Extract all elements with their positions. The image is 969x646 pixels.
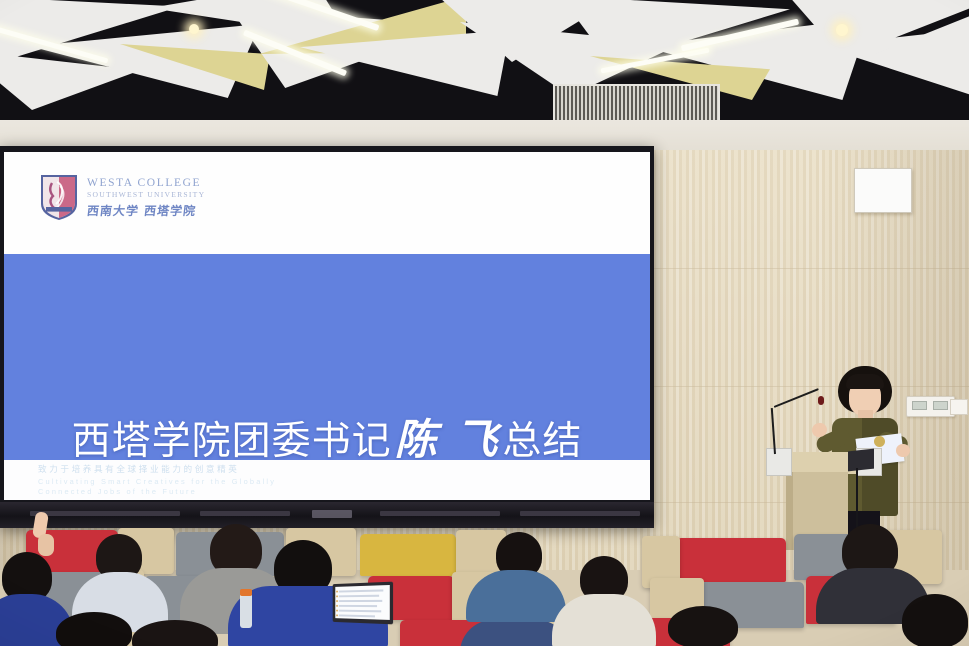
tagline-english-line1: Cultivating Smart Creatives for the Glob… <box>38 477 276 487</box>
laptop-screen <box>335 585 390 620</box>
presentation-display: WESTA COLLEGE SOUTHWEST UNIVERSITY 西南大学 … <box>0 146 654 528</box>
ac-display-left <box>912 401 927 410</box>
attendee-head <box>902 594 968 646</box>
lecture-hall-photo: WESTA COLLEGE SOUTHWEST UNIVERSITY 西南大学 … <box>0 0 969 646</box>
presenter-right-hand <box>896 444 910 457</box>
ac-display-right <box>933 401 948 410</box>
wall-light-switch[interactable] <box>950 399 968 415</box>
bottle-cap <box>240 589 252 596</box>
logo-english-sub: SOUTHWEST UNIVERSITY <box>87 190 205 199</box>
logo-english-name: WESTA COLLEGE <box>87 177 205 189</box>
attendee-head <box>56 612 132 646</box>
slide-title-suffix: 总结 <box>502 419 582 464</box>
raised-arm <box>38 534 54 556</box>
presenter-fringe <box>846 374 884 389</box>
presenter-brooch <box>874 436 885 447</box>
hvac-vent-grille <box>553 84 720 122</box>
slide-title-band: 西塔学院团委书记陈 飞总结 <box>4 254 650 460</box>
wall-notice-board <box>854 168 912 213</box>
seat-back <box>676 538 786 582</box>
ceiling-spotlight <box>189 24 199 34</box>
tagline-english-line2: Connected Jobs of the Future <box>38 487 276 497</box>
microphone-head <box>818 396 824 405</box>
logo-chinese-name: 西南大学 西塔学院 <box>86 202 206 219</box>
attendee-head <box>668 606 738 646</box>
seat-back <box>360 534 456 576</box>
ceiling-spotlight <box>836 24 848 36</box>
presentation-slide: WESTA COLLEGE SOUTHWEST UNIVERSITY 西南大学 … <box>4 152 650 500</box>
college-logo: WESTA COLLEGE SOUTHWEST UNIVERSITY 西南大学 … <box>40 174 205 221</box>
slide-header-band: WESTA COLLEGE SOUTHWEST UNIVERSITY 西南大学 … <box>4 152 650 254</box>
attendee-laptop[interactable] <box>333 582 393 625</box>
attendee-body <box>552 594 656 646</box>
ceiling <box>0 0 969 122</box>
tagline-chinese: 致力于培养具有全球择业能力的创意精英 <box>38 465 276 477</box>
slide-title: 西塔学院团委书记陈 飞总结 <box>4 406 650 467</box>
slide-title-name: 陈 飞 <box>392 415 503 464</box>
lectern-side-panel-left <box>766 448 792 476</box>
seated-audience <box>0 520 969 646</box>
slide-tagline: 致力于培养具有全球择业能力的创意精英 Cultivating Smart Cre… <box>38 465 276 497</box>
westa-college-shield-logo <box>40 174 78 221</box>
display-brand-logo <box>312 510 352 518</box>
slide-footer-band: 致力于培养具有全球择业能力的创意精英 Cultivating Smart Cre… <box>4 460 650 500</box>
lectern-control-device[interactable] <box>848 449 874 472</box>
logo-wordmark: WESTA COLLEGE SOUTHWEST UNIVERSITY 西南大学 … <box>87 177 205 219</box>
water-bottle <box>240 594 252 628</box>
slide-title-prefix: 西塔学院团委书记 <box>72 419 392 464</box>
